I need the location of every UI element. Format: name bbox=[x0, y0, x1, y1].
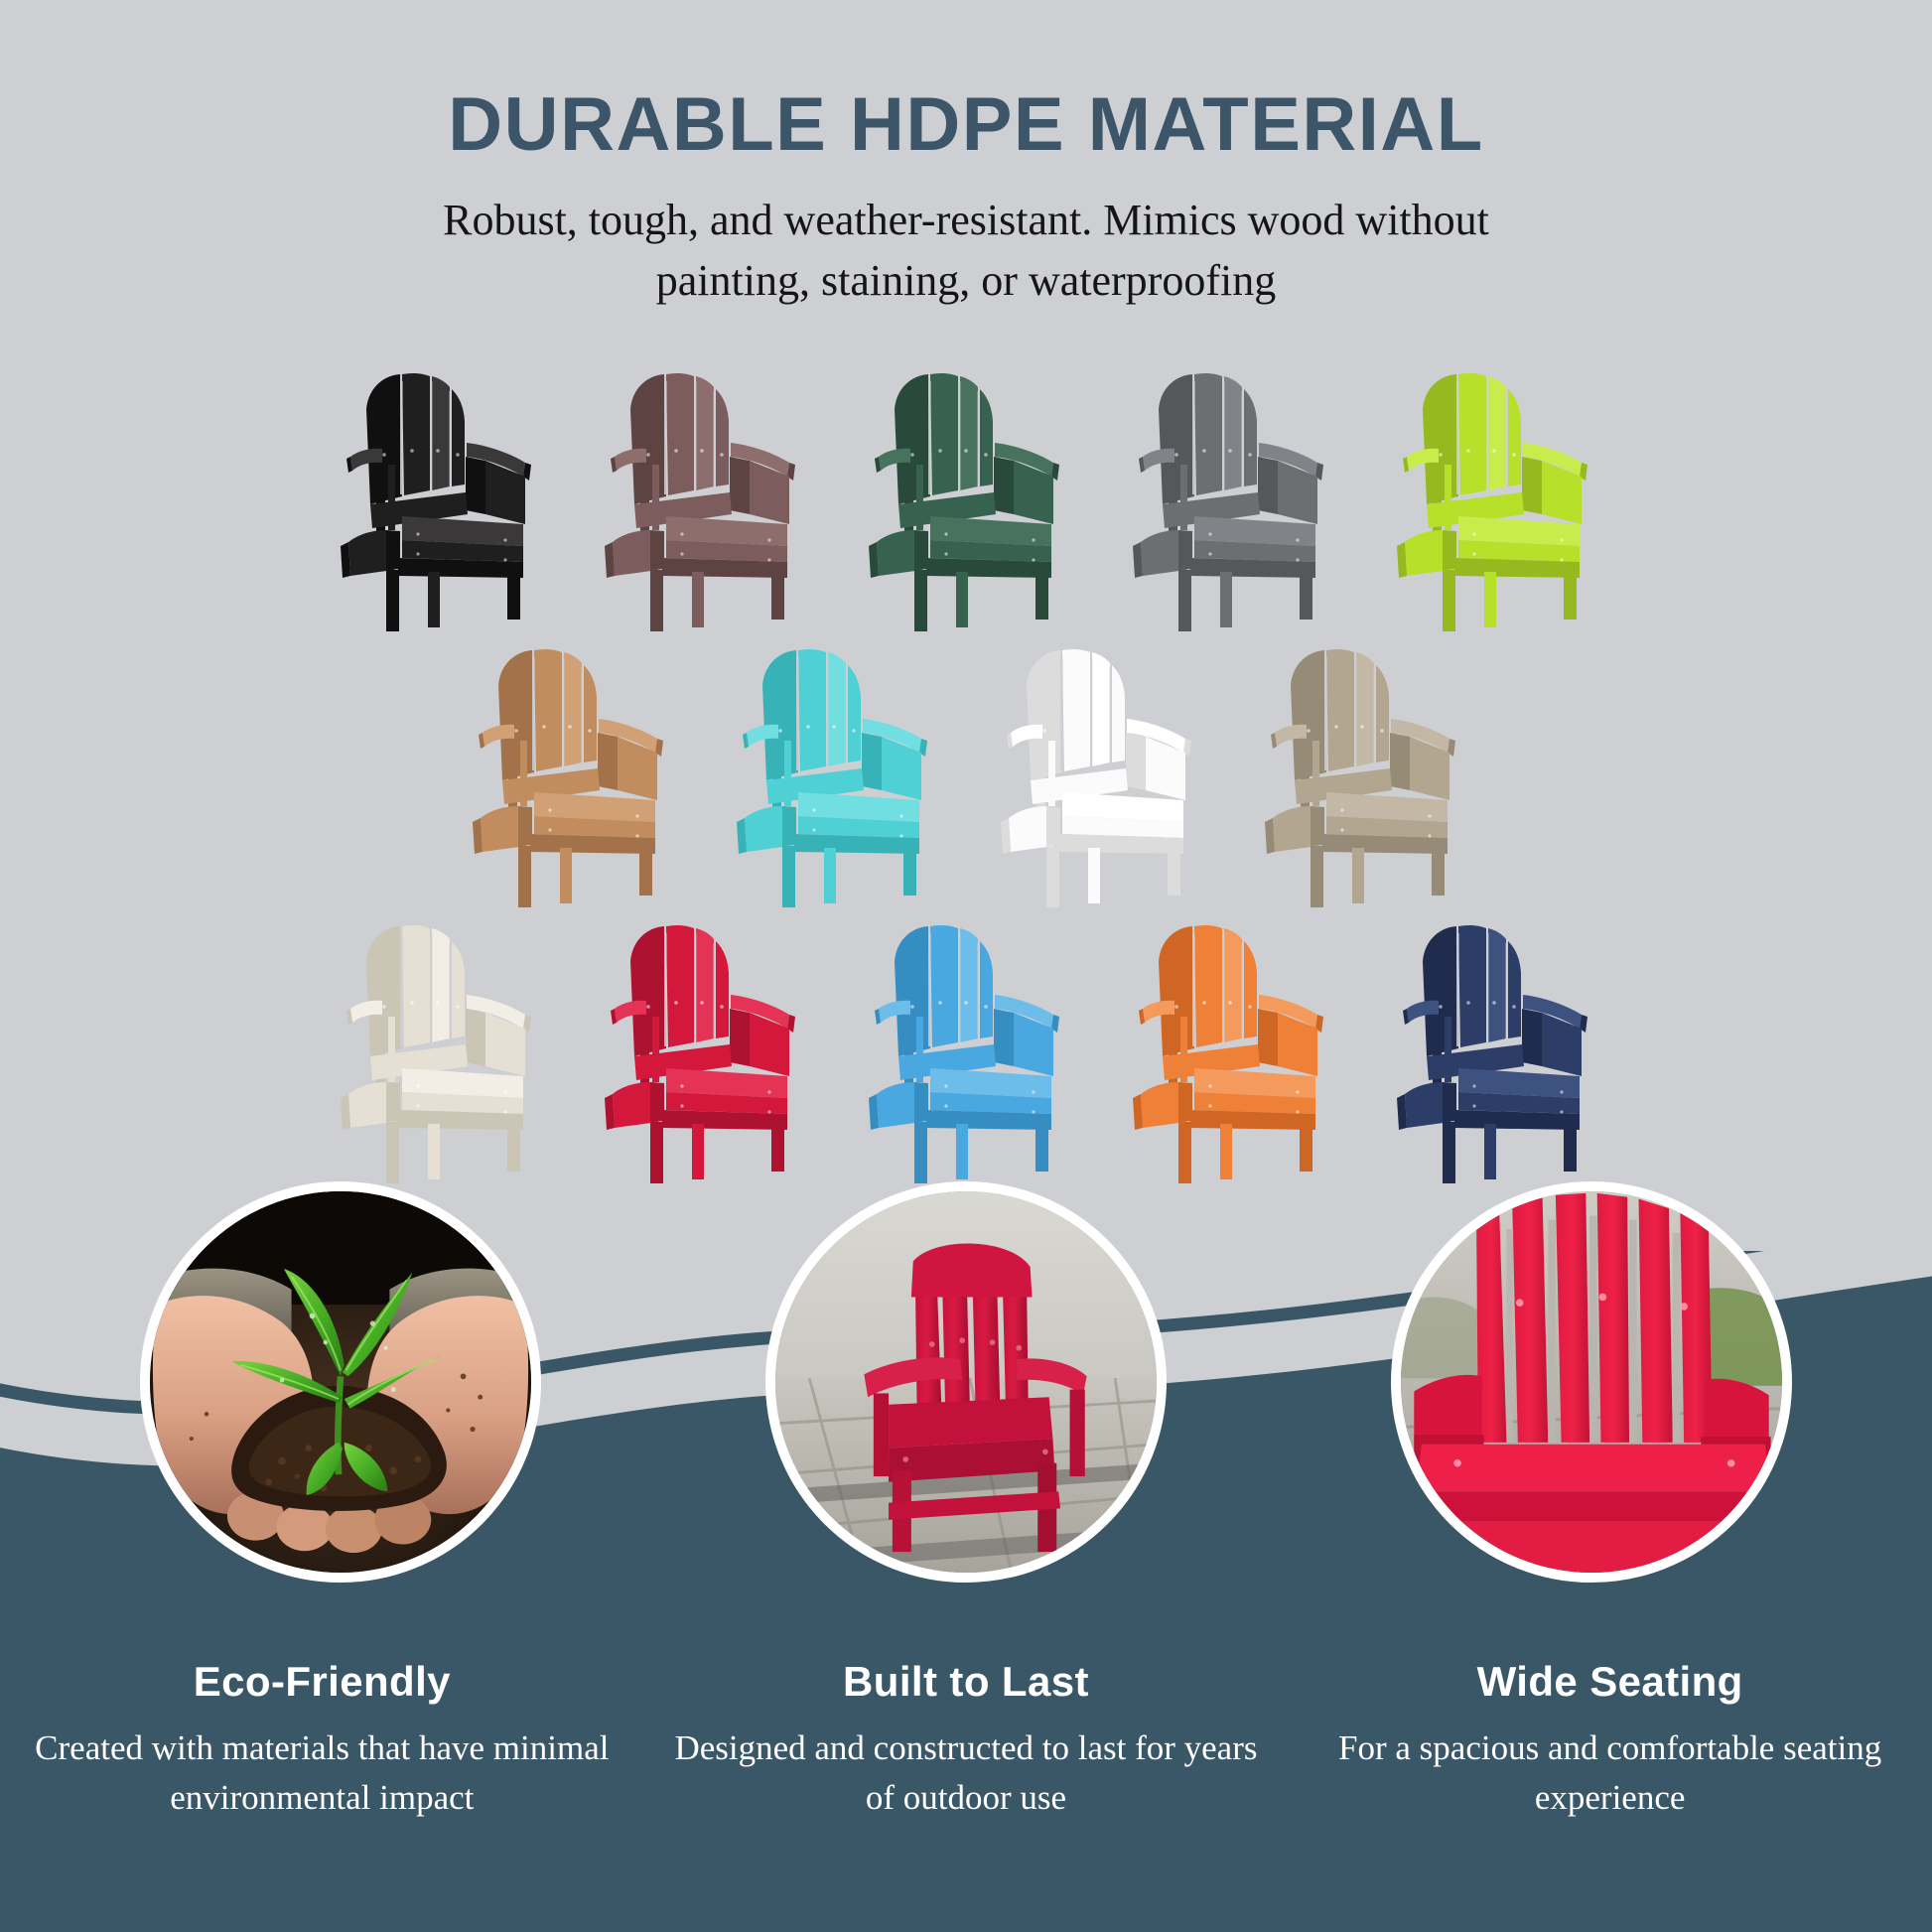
header-block: DURABLE HDPE MATERIAL Robust, tough, and… bbox=[0, 85, 1932, 311]
chair-cell-white bbox=[966, 641, 1230, 911]
adirondack-chair-lime-green bbox=[1383, 365, 1605, 635]
chair-cell-black bbox=[306, 365, 570, 635]
adirondack-chair-turquoise bbox=[723, 641, 945, 911]
chair-cell-crimson-red bbox=[570, 917, 834, 1187]
feature-heading-eco-friendly: Eco-Friendly bbox=[24, 1658, 621, 1706]
chair-legs bbox=[650, 570, 784, 631]
chair-legs bbox=[518, 846, 652, 907]
feature-heading-built-to-last: Built to Last bbox=[668, 1658, 1265, 1706]
chair-cell-navy-blue bbox=[1362, 917, 1626, 1187]
chair-legs bbox=[914, 570, 1048, 631]
feature-image-eco-friendly bbox=[140, 1181, 541, 1583]
feature-column-eco-friendly: Eco-Friendly Created with materials that… bbox=[0, 1658, 644, 1822]
adirondack-chair-orange bbox=[1119, 917, 1341, 1187]
feature-image-wide-seating bbox=[1391, 1181, 1792, 1583]
feature-text-row: Eco-Friendly Created with materials that… bbox=[0, 1658, 1932, 1822]
chair-legs bbox=[1178, 1122, 1312, 1183]
adirondack-chair-greige-taupe bbox=[1251, 641, 1473, 911]
page-title: DURABLE HDPE MATERIAL bbox=[0, 85, 1932, 165]
page-subtitle: Robust, tough, and weather-resistant. Mi… bbox=[410, 191, 1522, 311]
chair-row-3 bbox=[0, 917, 1932, 1187]
chair-legs bbox=[386, 570, 520, 631]
adirondack-chair-crimson-red bbox=[591, 917, 813, 1187]
chair-legs bbox=[1443, 570, 1577, 631]
feature-column-built-to-last: Built to Last Designed and constructed t… bbox=[644, 1658, 1289, 1822]
chair-cell-brown-mauve bbox=[570, 365, 834, 635]
feature-body-built-to-last: Designed and constructed to last for yea… bbox=[668, 1724, 1265, 1822]
chair-color-grid bbox=[0, 365, 1932, 1239]
infographic-canvas: DURABLE HDPE MATERIAL Robust, tough, and… bbox=[0, 0, 1932, 1932]
chair-legs bbox=[1178, 570, 1312, 631]
chair-legs bbox=[650, 1122, 784, 1183]
chair-cell-greige-taupe bbox=[1230, 641, 1494, 911]
chair-cell-lime-green bbox=[1362, 365, 1626, 635]
chair-legs bbox=[782, 846, 916, 907]
chair-legs bbox=[1311, 846, 1445, 907]
adirondack-chair-dark-green bbox=[855, 365, 1077, 635]
chair-cell-light-blue bbox=[834, 917, 1098, 1187]
red-chair-wide-seat-closeup bbox=[1401, 1191, 1782, 1573]
chair-row-2 bbox=[0, 641, 1932, 911]
chair-cell-orange bbox=[1098, 917, 1362, 1187]
adirondack-chair-teak-tan bbox=[459, 641, 681, 911]
chair-legs bbox=[386, 1122, 520, 1183]
adirondack-chair-navy-blue bbox=[1383, 917, 1605, 1187]
adirondack-chair-white bbox=[987, 641, 1209, 911]
feature-body-eco-friendly: Created with materials that have minimal… bbox=[24, 1724, 621, 1822]
feature-image-built-to-last bbox=[765, 1181, 1167, 1583]
feature-circle-row bbox=[0, 1181, 1932, 1608]
chair-cell-gray bbox=[1098, 365, 1362, 635]
adirondack-chair-brown-mauve bbox=[591, 365, 813, 635]
chair-cell-turquoise bbox=[702, 641, 966, 911]
chair-legs bbox=[1046, 846, 1180, 907]
feature-column-wide-seating: Wide Seating For a spacious and comforta… bbox=[1288, 1658, 1932, 1822]
red-chair-patio-photo bbox=[775, 1191, 1157, 1573]
feature-body-wide-seating: For a spacious and comfortable seating e… bbox=[1311, 1724, 1908, 1822]
chair-row-1 bbox=[0, 365, 1932, 635]
adirondack-chair-black bbox=[327, 365, 549, 635]
adirondack-chair-ivory-cream bbox=[327, 917, 549, 1187]
chair-legs bbox=[914, 1122, 1048, 1183]
feature-heading-wide-seating: Wide Seating bbox=[1311, 1658, 1908, 1706]
chair-cell-ivory-cream bbox=[306, 917, 570, 1187]
chair-cell-dark-green bbox=[834, 365, 1098, 635]
adirondack-chair-light-blue bbox=[855, 917, 1077, 1187]
adirondack-chair-gray bbox=[1119, 365, 1341, 635]
chair-legs bbox=[1443, 1122, 1577, 1183]
hands-soil-seedling-illustration bbox=[150, 1191, 531, 1573]
chair-cell-teak-tan bbox=[438, 641, 702, 911]
